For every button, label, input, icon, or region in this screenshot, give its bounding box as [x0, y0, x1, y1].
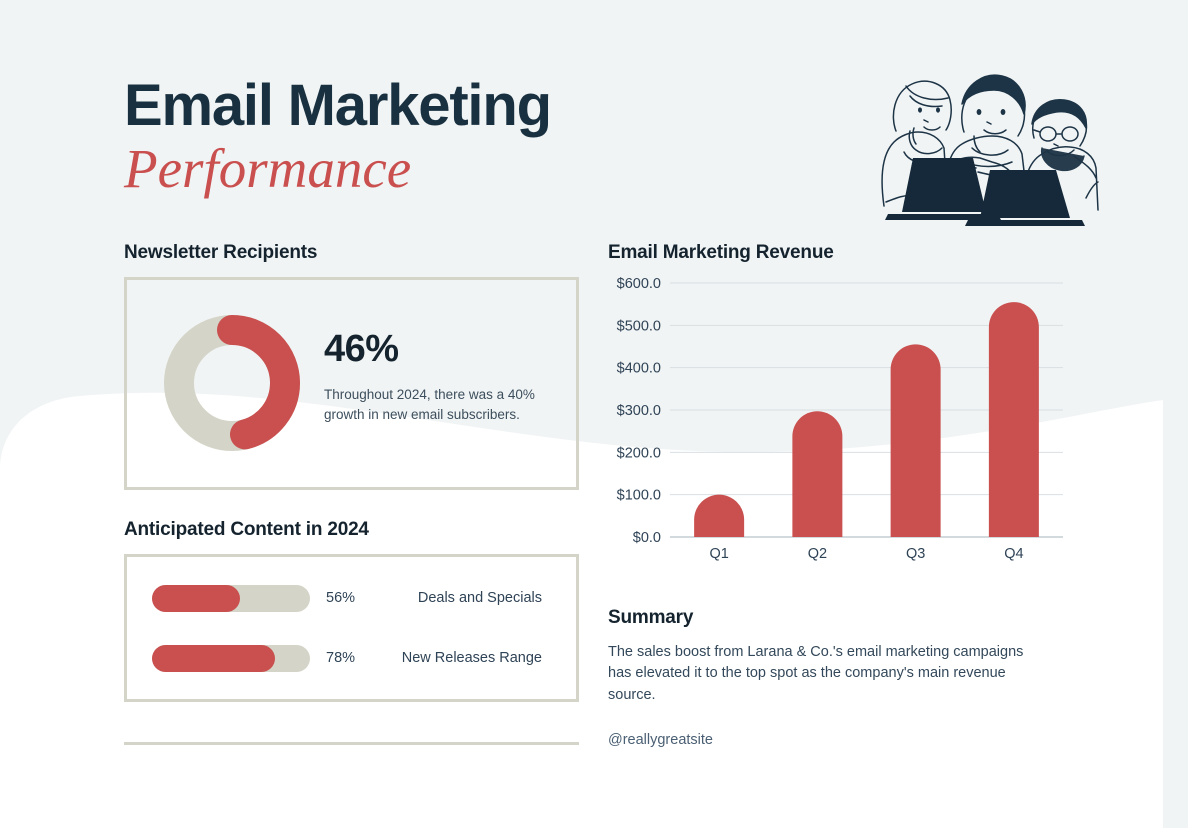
y-axis-tick-label: $100.0: [617, 488, 661, 504]
newsletter-stats: 46% Throughout 2024, there was a 40% gro…: [324, 330, 549, 425]
bar-Q1: [694, 495, 744, 537]
section-heading-summary: Summary: [608, 607, 693, 629]
anticipated-card: [124, 554, 579, 702]
x-axis-tick-label: Q3: [906, 546, 925, 562]
poster-title: Email Marketing Performance: [124, 76, 551, 198]
bar-Q3: [891, 344, 941, 537]
y-axis-tick-label: $600.0: [617, 276, 661, 292]
section-heading-revenue: Email Marketing Revenue: [608, 242, 834, 264]
progress-row: 78% New Releases Range: [152, 644, 552, 672]
footer-divider: [124, 742, 579, 745]
section-heading-anticipated: Anticipated Content in 2024: [124, 519, 369, 541]
newsletter-percent: 46%: [324, 330, 549, 368]
progress-track: [152, 585, 310, 612]
revenue-bar-chart: $0.0$100.0$200.0$300.0$400.0$500.0$600.0…: [608, 270, 1068, 575]
progress-percent: 78%: [326, 650, 380, 666]
social-handle: @reallygreatsite: [608, 732, 713, 748]
infographic-poster: Email Marketing Performance: [0, 0, 1188, 828]
y-axis-tick-label: $300.0: [617, 403, 661, 419]
progress-label: New Releases Range: [380, 650, 552, 666]
title-line-primary: Email Marketing: [124, 76, 551, 137]
progress-fill: [152, 585, 240, 612]
x-axis-tick-label: Q1: [709, 546, 728, 562]
progress-label: Deals and Specials: [380, 590, 552, 606]
x-axis-tick-label: Q4: [1004, 546, 1023, 562]
x-axis-tick-label: Q2: [808, 546, 827, 562]
y-axis-tick-label: $400.0: [617, 361, 661, 377]
section-heading-newsletter: Newsletter Recipients: [124, 242, 317, 264]
y-axis-tick-label: $0.0: [633, 530, 661, 546]
three-people-at-laptops-illustration: [858, 28, 1103, 228]
bar-Q2: [792, 411, 842, 537]
bar-Q4: [989, 302, 1039, 537]
newsletter-description: Throughout 2024, there was a 40% growth …: [324, 385, 549, 425]
summary-text: The sales boost from Larana & Co.'s emai…: [608, 642, 1038, 706]
progress-percent: 56%: [326, 590, 380, 606]
y-axis-tick-label: $200.0: [617, 445, 661, 461]
y-axis-tick-label: $500.0: [617, 318, 661, 334]
progress-track: [152, 645, 310, 672]
progress-row: 56% Deals and Specials: [152, 584, 552, 612]
progress-fill: [152, 645, 275, 672]
donut-chart: [162, 313, 302, 453]
title-line-secondary: Performance: [124, 139, 551, 198]
